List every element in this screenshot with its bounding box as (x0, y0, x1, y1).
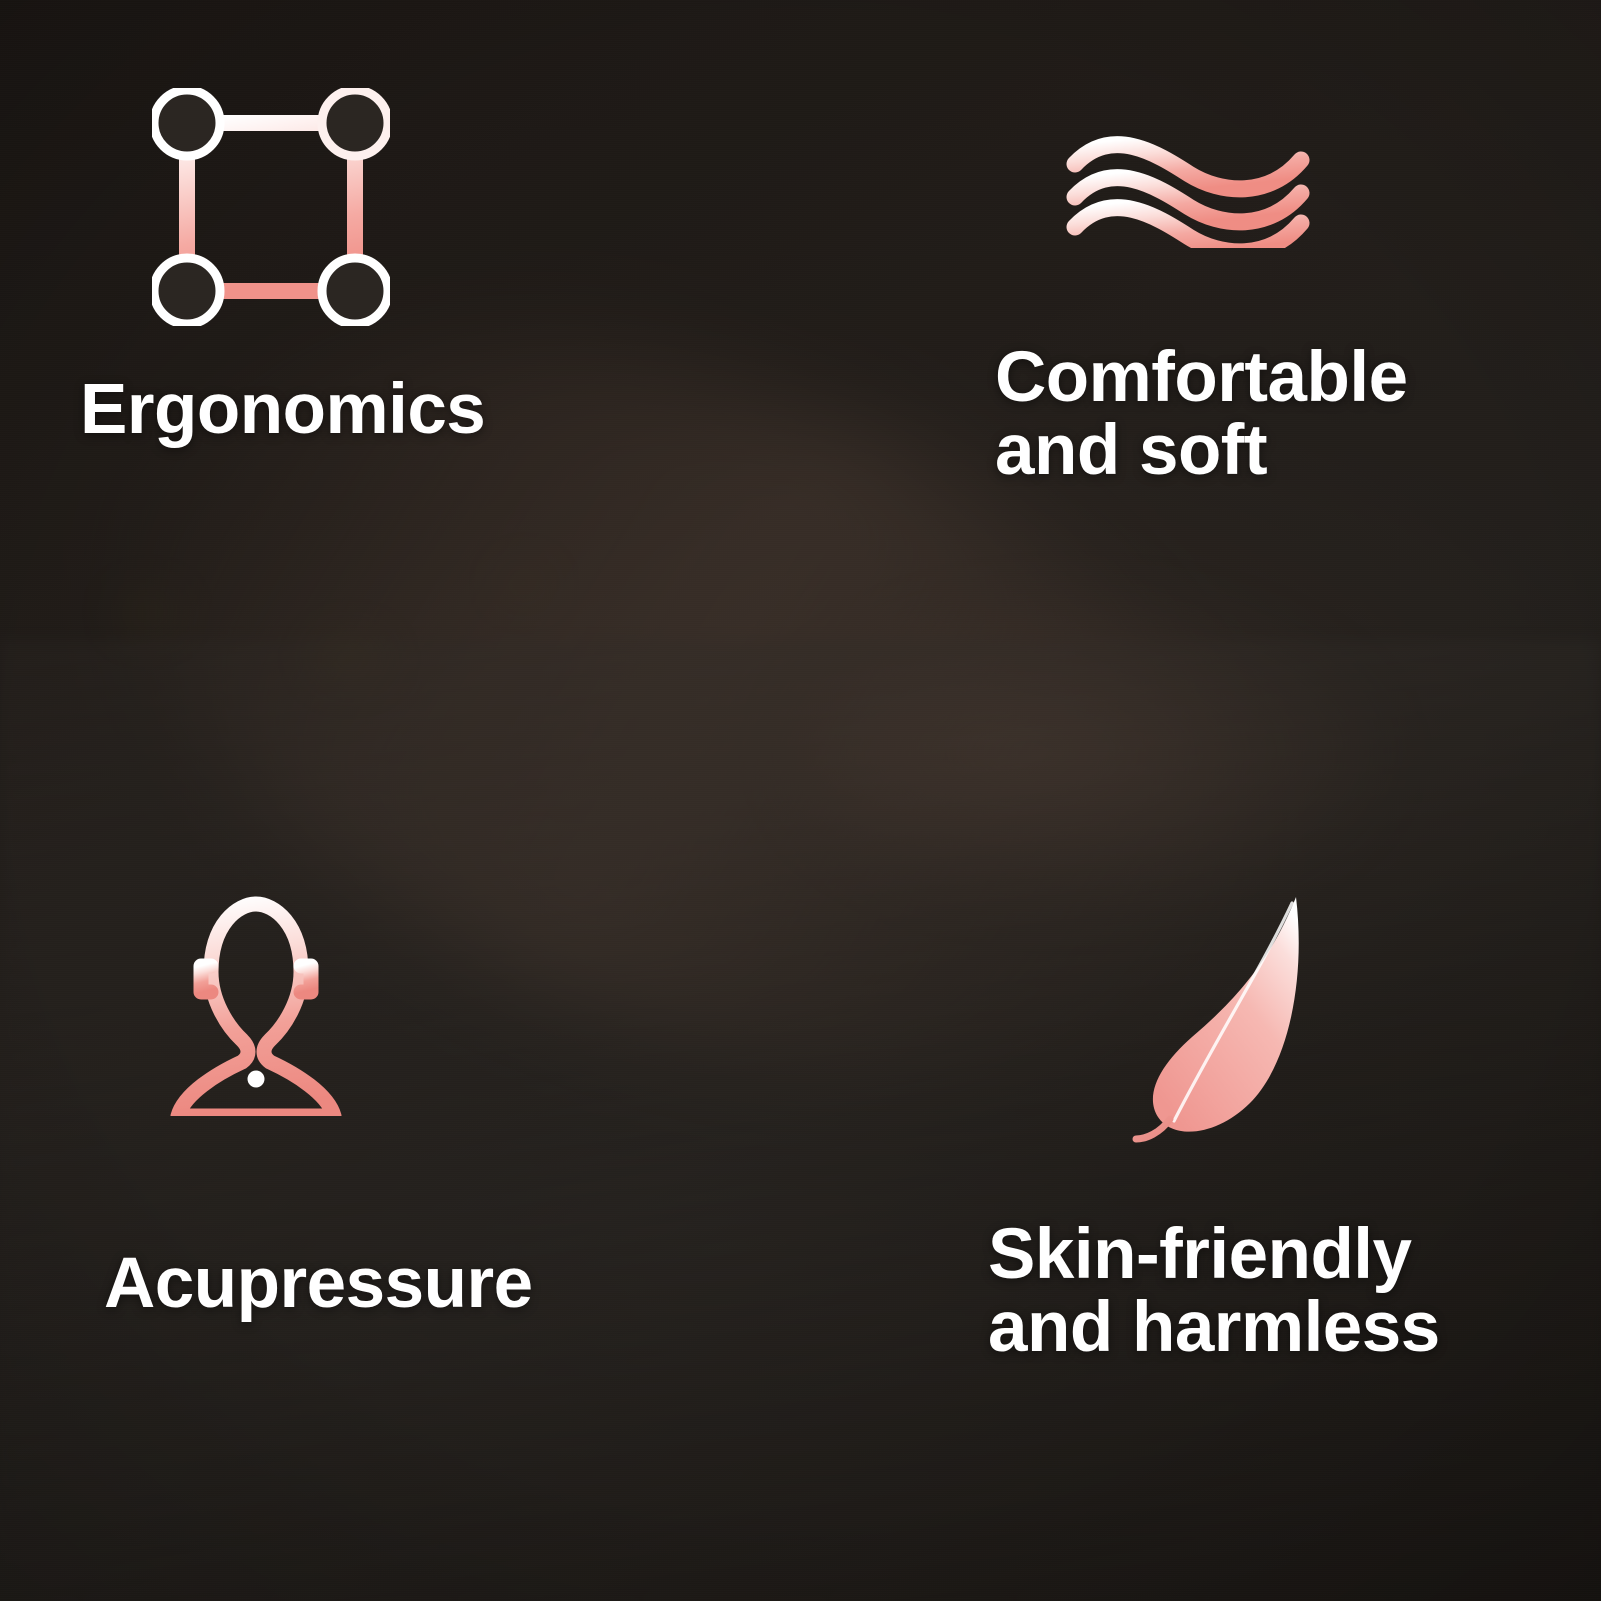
feature-banner: Ergonomics (0, 0, 1601, 1601)
feature-label-skin-friendly-and-harmless: Skin-friendly and harmless (988, 1218, 1440, 1364)
feature-ergonomics: Ergonomics (152, 88, 485, 446)
feature-grid: Ergonomics (0, 0, 1601, 1601)
feature-skin-friendly-and-harmless: Skin-friendly and harmless (1120, 885, 1440, 1364)
feature-acupressure: Acupressure (148, 888, 533, 1320)
acupressure-point-dot (248, 1071, 265, 1088)
person-bust-icon (148, 888, 533, 1121)
feature-comfortable-and-soft: Comfortable and soft (1063, 130, 1408, 487)
feature-label-ergonomics: Ergonomics (80, 373, 485, 446)
wavy-lines-icon (1063, 130, 1408, 253)
feature-label-comfortable-and-soft: Comfortable and soft (995, 341, 1408, 487)
leaf-icon (1120, 885, 1440, 1150)
square-nodes-icon (152, 88, 485, 331)
feature-label-acupressure: Acupressure (104, 1247, 533, 1320)
